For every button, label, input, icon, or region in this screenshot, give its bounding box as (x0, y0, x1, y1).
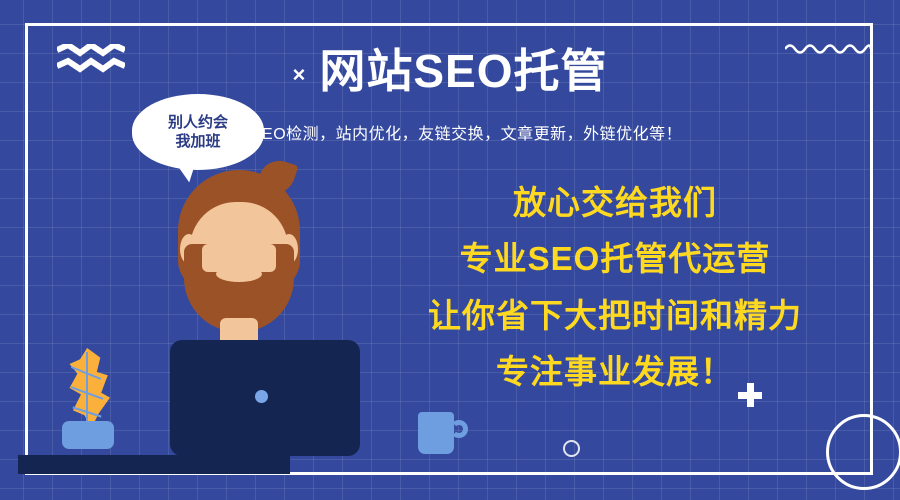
mug-handle (450, 420, 468, 438)
speech-bubble: 别人约会 我加班 (132, 94, 264, 170)
laptop-logo-dot (255, 390, 268, 403)
circle-outline-icon (563, 440, 580, 457)
speech-bubble-line: 别人约会 (168, 113, 228, 132)
sales-line: 放心交给我们 (513, 185, 717, 221)
plant-pot (62, 421, 114, 449)
desk (18, 455, 290, 474)
coffee-mug-icon (418, 412, 454, 454)
corner-circle-icon (826, 414, 900, 490)
speech-bubble-line: 我加班 (175, 132, 220, 151)
title-text: 网站SEO托管 (319, 47, 607, 95)
sales-copy-list: 放心交给我们 专业SEO托管代运营 让你省下大把时间和精力 专注事业发展！ (380, 185, 850, 390)
sales-line: 让你省下大把时间和精力 (428, 298, 802, 334)
sales-line: 专注事业发展！ (496, 354, 734, 390)
title-bullet-icon: × (292, 64, 305, 86)
sales-line: 专业SEO托管代运营 (460, 241, 771, 277)
seo-promo-banner: × 网站SEO托管 含：SEO检测，站内优化，友链交换，文章更新，外链优化等！ … (0, 0, 900, 500)
page-title: × 网站SEO托管 (0, 47, 900, 95)
leaf-vein (86, 352, 88, 426)
mouth (216, 266, 262, 282)
